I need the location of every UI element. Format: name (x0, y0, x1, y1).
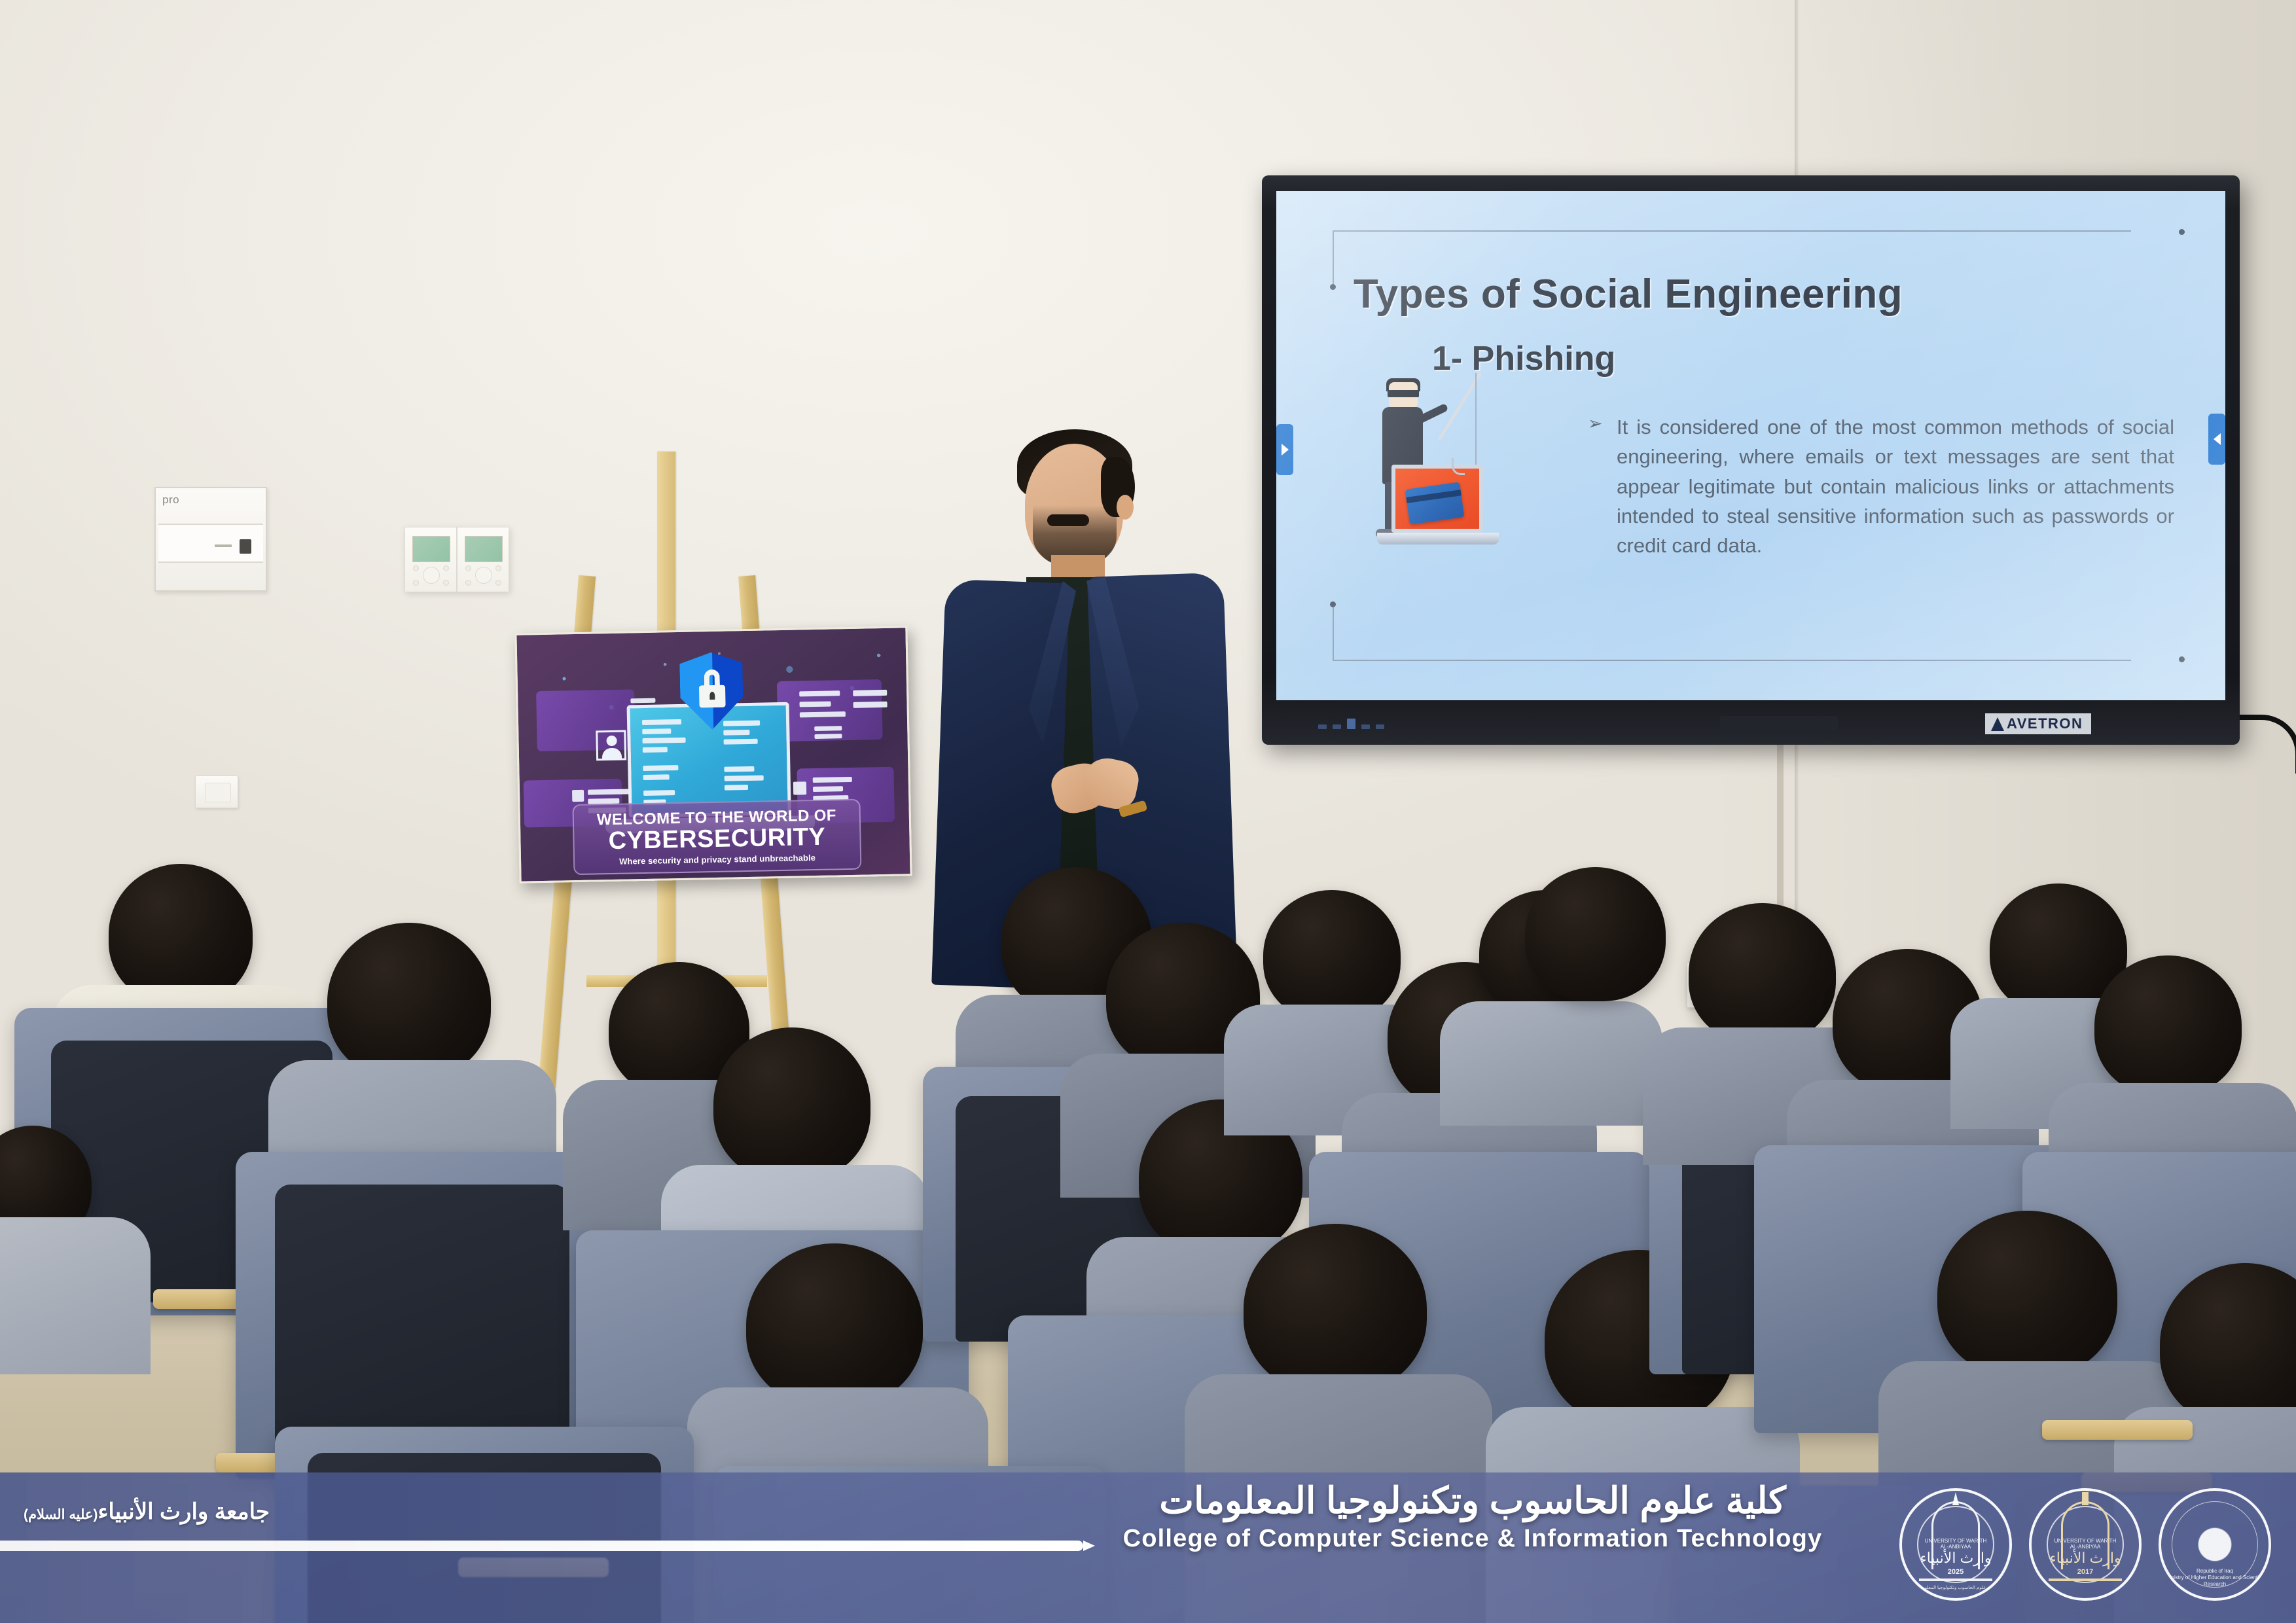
audience-shoulders (1440, 1001, 1662, 1126)
port-icon (1347, 719, 1355, 729)
poster-code-line (643, 790, 675, 796)
slide-title: Types of Social Engineering (1354, 271, 1903, 317)
audience-head (2094, 955, 2242, 1096)
logo-caption-arabic: كلية علوم الحاسوب وتكنولوجيا المعلومات (1916, 1585, 1995, 1590)
presenter-ear (1117, 495, 1134, 520)
display-ir-sensor-strip (1720, 716, 1838, 730)
poster-bar (588, 789, 631, 794)
slide-frame-dot (1330, 284, 1336, 290)
logo-ministry-text: Republic of Iraq Ministry of Higher Educ… (2161, 1568, 2269, 1588)
footer-banner: جامعة وارث الأنبياء(عليه السلام) كلية عل… (0, 1472, 2296, 1623)
display-brand-plate: AVETRON (1985, 713, 2091, 734)
poster-code-line (642, 719, 681, 725)
audience-head (1525, 867, 1666, 1001)
audience-head (327, 923, 491, 1080)
poster-bar (853, 690, 887, 696)
display-screen[interactable]: Types of Social Engineering 1- Phishing (1276, 191, 2225, 700)
university-warith-college-seal-logo: UNIVERSITY OF WARITH AL-ANBIYAA وارث الأ… (1899, 1488, 2012, 1601)
audience-head (713, 1027, 870, 1181)
port-icon (1376, 724, 1384, 729)
thermostat-button[interactable] (465, 565, 471, 571)
slide-frame-dot (2179, 229, 2185, 235)
audience-head (1689, 903, 1836, 1044)
thermostat-button[interactable] (413, 580, 419, 586)
chevron-right-icon (1282, 444, 1289, 455)
lecture-hall-photo: pro (0, 0, 2296, 1623)
university-honorific-text: (عليه السلام) (24, 1507, 98, 1522)
thermostat-brand (405, 531, 456, 535)
seat-armrest (2042, 1420, 2193, 1440)
display-toolbar-tab-left[interactable] (1276, 424, 1293, 475)
slide-body-text: It is considered one of the most common … (1617, 412, 2174, 560)
display-brand-name: AVETRON (2007, 715, 2083, 732)
phishing-illustration (1354, 366, 1504, 582)
wall-control-panel: pro (154, 487, 267, 592)
poster-bar (813, 777, 852, 783)
credit-card-stripe (1406, 490, 1461, 503)
university-name-arabic-left: جامعة وارث الأنبياء(عليه السلام) (14, 1499, 270, 1525)
ministry-of-higher-education-seal-logo: Republic of Iraq Ministry of Higher Educ… (2159, 1488, 2271, 1601)
phishing-laptop-base (1377, 533, 1499, 544)
poster-code-line (725, 776, 764, 781)
display-bezel: Types of Social Engineering 1- Phishing (1262, 175, 2240, 745)
logo-baseline (1919, 1578, 1992, 1581)
poster-user-icon (596, 730, 626, 761)
poster-code-line (724, 766, 754, 772)
logo-year: 2025 (1948, 1568, 1964, 1576)
logo-arabic-word: وارث الأنبياء (1920, 1550, 1991, 1567)
college-name-english: College of Computer Science & Informatio… (1106, 1525, 1839, 1553)
thermostat-button[interactable] (465, 580, 471, 586)
presenter-moustache (1047, 514, 1089, 526)
poster-code-line (723, 730, 749, 736)
audience-shoulders (0, 1217, 151, 1374)
poster-bar (800, 711, 846, 717)
audience-head (746, 1243, 923, 1407)
poster-code-line (643, 774, 670, 780)
poster-panel (777, 679, 883, 741)
slide-bullet-marker: ➢ (1588, 414, 1603, 434)
poster-code-line (643, 747, 668, 753)
college-name-block: كلية علوم الحاسوب وتكنولوجيا المعلومات C… (1106, 1479, 1839, 1553)
poster-code-line (724, 739, 758, 745)
logo-arabic-word: وارث الأنبياء (2049, 1550, 2121, 1567)
panel-lock-icon (240, 539, 251, 554)
thermostat-screen (412, 536, 450, 562)
college-name-arabic: كلية علوم الحاسوب وتكنولوجيا المعلومات (1106, 1479, 1839, 1522)
thermostat-dial[interactable] (475, 567, 492, 584)
panel-door (158, 524, 263, 563)
brand-triangle-icon (1991, 717, 2004, 731)
poster-bar (799, 690, 840, 696)
fishing-line (1475, 373, 1477, 465)
presentation-slide: Types of Social Engineering 1- Phishing (1276, 191, 2225, 700)
credit-card-icon (1405, 482, 1465, 524)
poster-bar (814, 726, 842, 731)
thermostat-left[interactable] (404, 527, 457, 592)
audience-head (109, 864, 253, 1005)
logo-baseline (2049, 1578, 2122, 1581)
audience-head (1244, 1224, 1427, 1394)
logo-ministry-line1: Republic of Iraq (2161, 1568, 2269, 1575)
thief-mask-icon (1388, 390, 1419, 397)
poster-code-line (643, 738, 686, 743)
thermostat-button[interactable] (413, 565, 419, 571)
light-switch-plate[interactable] (195, 776, 238, 808)
university-warith-al-anbiyaa-seal-logo: UNIVERSITY OF WARITH AL-ANBIYAA وارث الأ… (2029, 1488, 2142, 1601)
display-chin: AVETRON (1262, 700, 2240, 745)
poster-bar (799, 702, 831, 707)
poster-bar (793, 781, 806, 794)
audience-head (1263, 890, 1401, 1021)
poster-bar (630, 698, 655, 704)
poster-code-line (725, 785, 748, 791)
thermostat-dial[interactable] (423, 567, 440, 584)
poster-bar (814, 734, 842, 739)
university-name-text: جامعة وارث الأنبياء (98, 1499, 270, 1524)
poster-code-line (643, 765, 678, 771)
thermostat-button[interactable] (443, 565, 449, 571)
port-icon (1361, 724, 1370, 729)
poster-code-line (642, 728, 671, 734)
display-port-indicators (1318, 719, 1384, 729)
thermostat-pair (404, 527, 509, 592)
audience-head (1937, 1211, 2117, 1378)
slide-frame-bottom (1333, 605, 2131, 661)
poster-bar (813, 786, 843, 792)
logo-ministry-line2: Ministry of Higher Education and Scienti… (2161, 1575, 2269, 1588)
poster-code-line (723, 721, 760, 726)
footer-logo-group: UNIVERSITY OF WARITH AL-ANBIYAA وارث الأ… (1899, 1488, 2271, 1601)
chevron-left-icon (2214, 433, 2221, 445)
poster-bar (572, 790, 584, 802)
port-icon (1318, 724, 1327, 729)
interactive-display[interactable]: Types of Social Engineering 1- Phishing (1262, 175, 2240, 745)
thermostat-button[interactable] (443, 580, 449, 586)
slide-frame-dot (2179, 656, 2185, 662)
footer-divider-line (0, 1541, 1083, 1551)
port-icon (1333, 724, 1341, 729)
display-toolbar-tab-right[interactable] (2208, 414, 2225, 465)
slide-frame-dot (1330, 601, 1336, 607)
lock-keyhole-icon (709, 692, 715, 700)
panel-brand-label: pro (162, 493, 179, 507)
panel-slot (215, 544, 232, 547)
poster-bar (853, 702, 888, 708)
logo-year: 2017 (2077, 1568, 2093, 1576)
